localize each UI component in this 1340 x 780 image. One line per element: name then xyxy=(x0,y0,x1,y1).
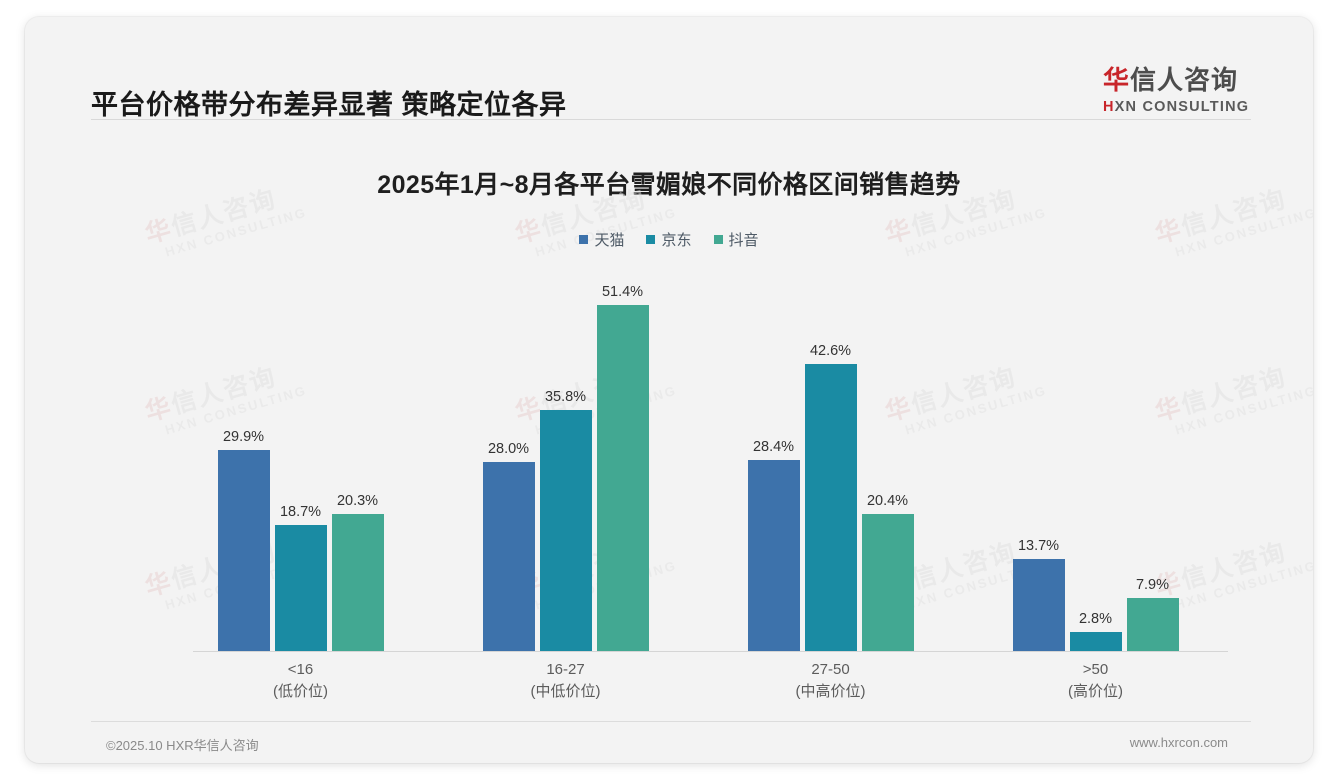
bar-天猫->50[interactable] xyxy=(1013,559,1065,651)
bar-column: 20.3% xyxy=(332,267,384,651)
bar-天猫-27-50[interactable] xyxy=(748,460,800,651)
slide-canvas: 华信人咨询HXN CONSULTING华信人咨询HXN CONSULTING华信… xyxy=(25,17,1313,763)
bar-天猫-<16[interactable] xyxy=(218,450,270,651)
bar-value-label: 13.7% xyxy=(1018,538,1059,554)
legend-item-天猫[interactable]: 天猫 xyxy=(579,229,624,250)
bar-value-label: 35.8% xyxy=(545,389,586,405)
x-tick-sub: (低价位) xyxy=(168,681,433,703)
legend-swatch-icon xyxy=(579,235,588,244)
x-tick-sub: (中低价位) xyxy=(433,681,698,703)
x-tick-27-50: 27-50(中高价位) xyxy=(698,659,963,703)
page-title: 平台价格带分布差异显著 策略定位各异 xyxy=(91,83,567,122)
x-tick-main: >50 xyxy=(1083,661,1108,678)
bar-天猫-16-27[interactable] xyxy=(483,462,535,651)
bar-抖音-<16[interactable] xyxy=(332,514,384,651)
bar-抖音->50[interactable] xyxy=(1127,598,1179,651)
bar-value-label: 51.4% xyxy=(602,284,643,300)
logo-sub-red: H xyxy=(1103,99,1115,115)
bar-抖音-27-50[interactable] xyxy=(862,514,914,651)
bar-column: 28.4% xyxy=(748,267,800,651)
x-tick-sub: (高价位) xyxy=(963,681,1228,703)
x-tick-main: 16-27 xyxy=(546,661,584,678)
slide-header: 平台价格带分布差异显著 策略定位各异 华信人咨询 HXN CONSULTING xyxy=(25,17,1313,120)
logo-brand-dark: 信人咨询 xyxy=(1130,65,1238,95)
logo-sub-dark: XN CONSULTING xyxy=(1115,99,1250,115)
bar-group-bars: 28.4%42.6%20.4% xyxy=(698,267,963,651)
chart-legend: 天猫京东抖音 xyxy=(25,229,1313,250)
bar-group-bars: 13.7%2.8%7.9% xyxy=(963,267,1228,651)
bar-column: 42.6% xyxy=(805,267,857,651)
bar-京东->50[interactable] xyxy=(1070,632,1122,651)
bar-value-label: 20.4% xyxy=(867,493,908,509)
bar-value-label: 28.0% xyxy=(488,441,529,457)
bar-value-label: 20.3% xyxy=(337,493,378,509)
bar-value-label: 28.4% xyxy=(753,439,794,455)
legend-item-抖音[interactable]: 抖音 xyxy=(714,229,759,250)
legend-label: 京东 xyxy=(661,229,691,250)
bar-column: 20.4% xyxy=(862,267,914,651)
bar-group->50: 13.7%2.8%7.9% xyxy=(963,267,1228,652)
bar-column: 13.7% xyxy=(1013,267,1065,651)
legend-label: 天猫 xyxy=(594,229,624,250)
logo-subtitle: HXN CONSULTING xyxy=(1103,98,1273,116)
footer-website[interactable]: www.hxrcon.com xyxy=(1130,735,1228,750)
bar-column: 35.8% xyxy=(540,267,592,651)
bar-group-27-50: 28.4%42.6%20.4% xyxy=(698,267,963,652)
bar-column: 29.9% xyxy=(218,267,270,651)
chart-plot-area: 29.9%18.7%20.3%28.0%35.8%51.4%28.4%42.6%… xyxy=(168,267,1228,653)
footer-divider xyxy=(91,721,1251,722)
x-tick->50: >50(高价位) xyxy=(963,659,1228,703)
legend-label: 抖音 xyxy=(729,229,759,250)
bar-value-label: 42.6% xyxy=(810,343,851,359)
legend-swatch-icon xyxy=(714,235,723,244)
bar-group-bars: 28.0%35.8%51.4% xyxy=(433,267,698,651)
x-tick-<16: <16(低价位) xyxy=(168,659,433,703)
logo-brand-red: 华 xyxy=(1103,65,1130,95)
x-tick-16-27: 16-27(中低价位) xyxy=(433,659,698,703)
bar-value-label: 18.7% xyxy=(280,504,321,520)
bar-京东-<16[interactable] xyxy=(275,525,327,651)
bar-value-label: 29.9% xyxy=(223,429,264,445)
bar-京东-27-50[interactable] xyxy=(805,364,857,651)
header-divider xyxy=(91,119,1251,120)
bar-column: 2.8% xyxy=(1070,267,1122,651)
bar-group-bars: 29.9%18.7%20.3% xyxy=(168,267,433,651)
bar-value-label: 2.8% xyxy=(1079,611,1112,627)
company-logo: 华信人咨询 HXN CONSULTING xyxy=(1103,65,1273,116)
legend-swatch-icon xyxy=(646,235,655,244)
bar-column: 7.9% xyxy=(1127,267,1179,651)
bar-groups: 29.9%18.7%20.3%28.0%35.8%51.4%28.4%42.6%… xyxy=(168,267,1228,652)
bar-column: 18.7% xyxy=(275,267,327,651)
bar-column: 51.4% xyxy=(597,267,649,651)
x-axis-tick-labels: <16(低价位)16-27(中低价位)27-50(中高价位)>50(高价位) xyxy=(168,659,1228,703)
bar-京东-16-27[interactable] xyxy=(540,410,592,651)
x-tick-main: 27-50 xyxy=(811,661,849,678)
bar-value-label: 7.9% xyxy=(1136,577,1169,593)
bar-group-<16: 29.9%18.7%20.3% xyxy=(168,267,433,652)
x-tick-sub: (中高价位) xyxy=(698,681,963,703)
legend-item-京东[interactable]: 京东 xyxy=(646,229,691,250)
logo-brand-text: 华信人咨询 xyxy=(1103,65,1273,95)
x-tick-main: <16 xyxy=(288,661,313,678)
bar-抖音-16-27[interactable] xyxy=(597,305,649,651)
chart-title: 2025年1月~8月各平台雪媚娘不同价格区间销售趋势 xyxy=(25,165,1313,201)
bar-group-16-27: 28.0%35.8%51.4% xyxy=(433,267,698,652)
footer-copyright: ©2025.10 HXR华信人咨询 xyxy=(106,735,259,754)
bar-column: 28.0% xyxy=(483,267,535,651)
